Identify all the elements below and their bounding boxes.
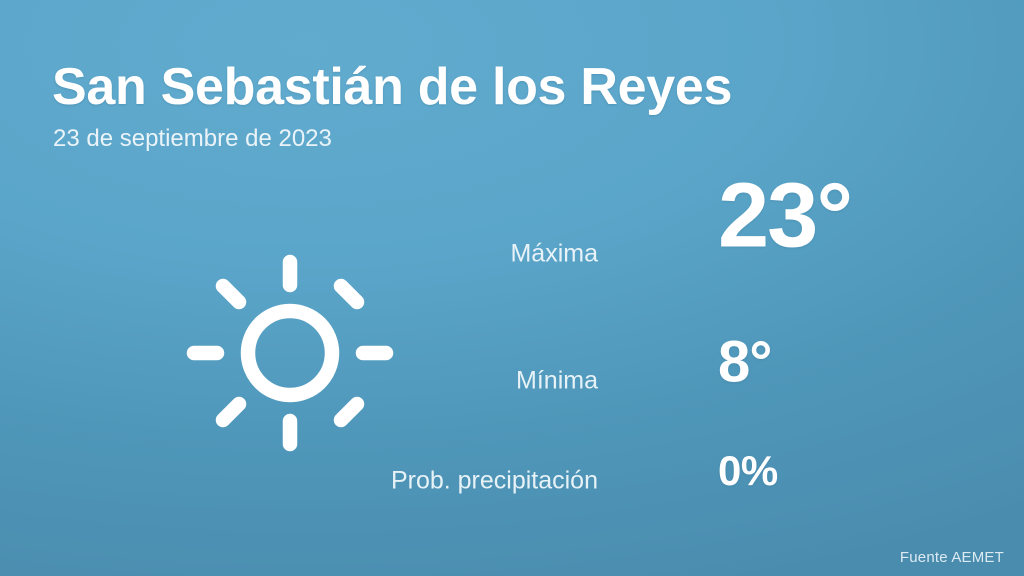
header: San Sebastián de los Reyes 23 de septiem… xyxy=(52,56,772,154)
forecast-date: 23 de septiembre de 2023 xyxy=(53,124,772,154)
stat-label-maxima: Máxima xyxy=(510,239,598,268)
stat-value-precipitacion: 0% xyxy=(718,447,778,495)
stat-label-minima: Mínima xyxy=(516,366,598,395)
sun-rays xyxy=(194,262,386,444)
stat-label-precipitacion: Prob. precipitación xyxy=(391,466,598,495)
source-attribution: Fuente AEMET xyxy=(900,549,1004,566)
sun-core-circle xyxy=(248,311,332,395)
sun-icon xyxy=(183,252,397,454)
weather-card: San Sebastián de los Reyes 23 de septiem… xyxy=(0,0,1024,576)
page-title: San Sebastián de los Reyes xyxy=(52,56,772,118)
stat-value-maxima: 23° xyxy=(718,163,851,268)
stat-value-minima: 8° xyxy=(718,328,771,395)
